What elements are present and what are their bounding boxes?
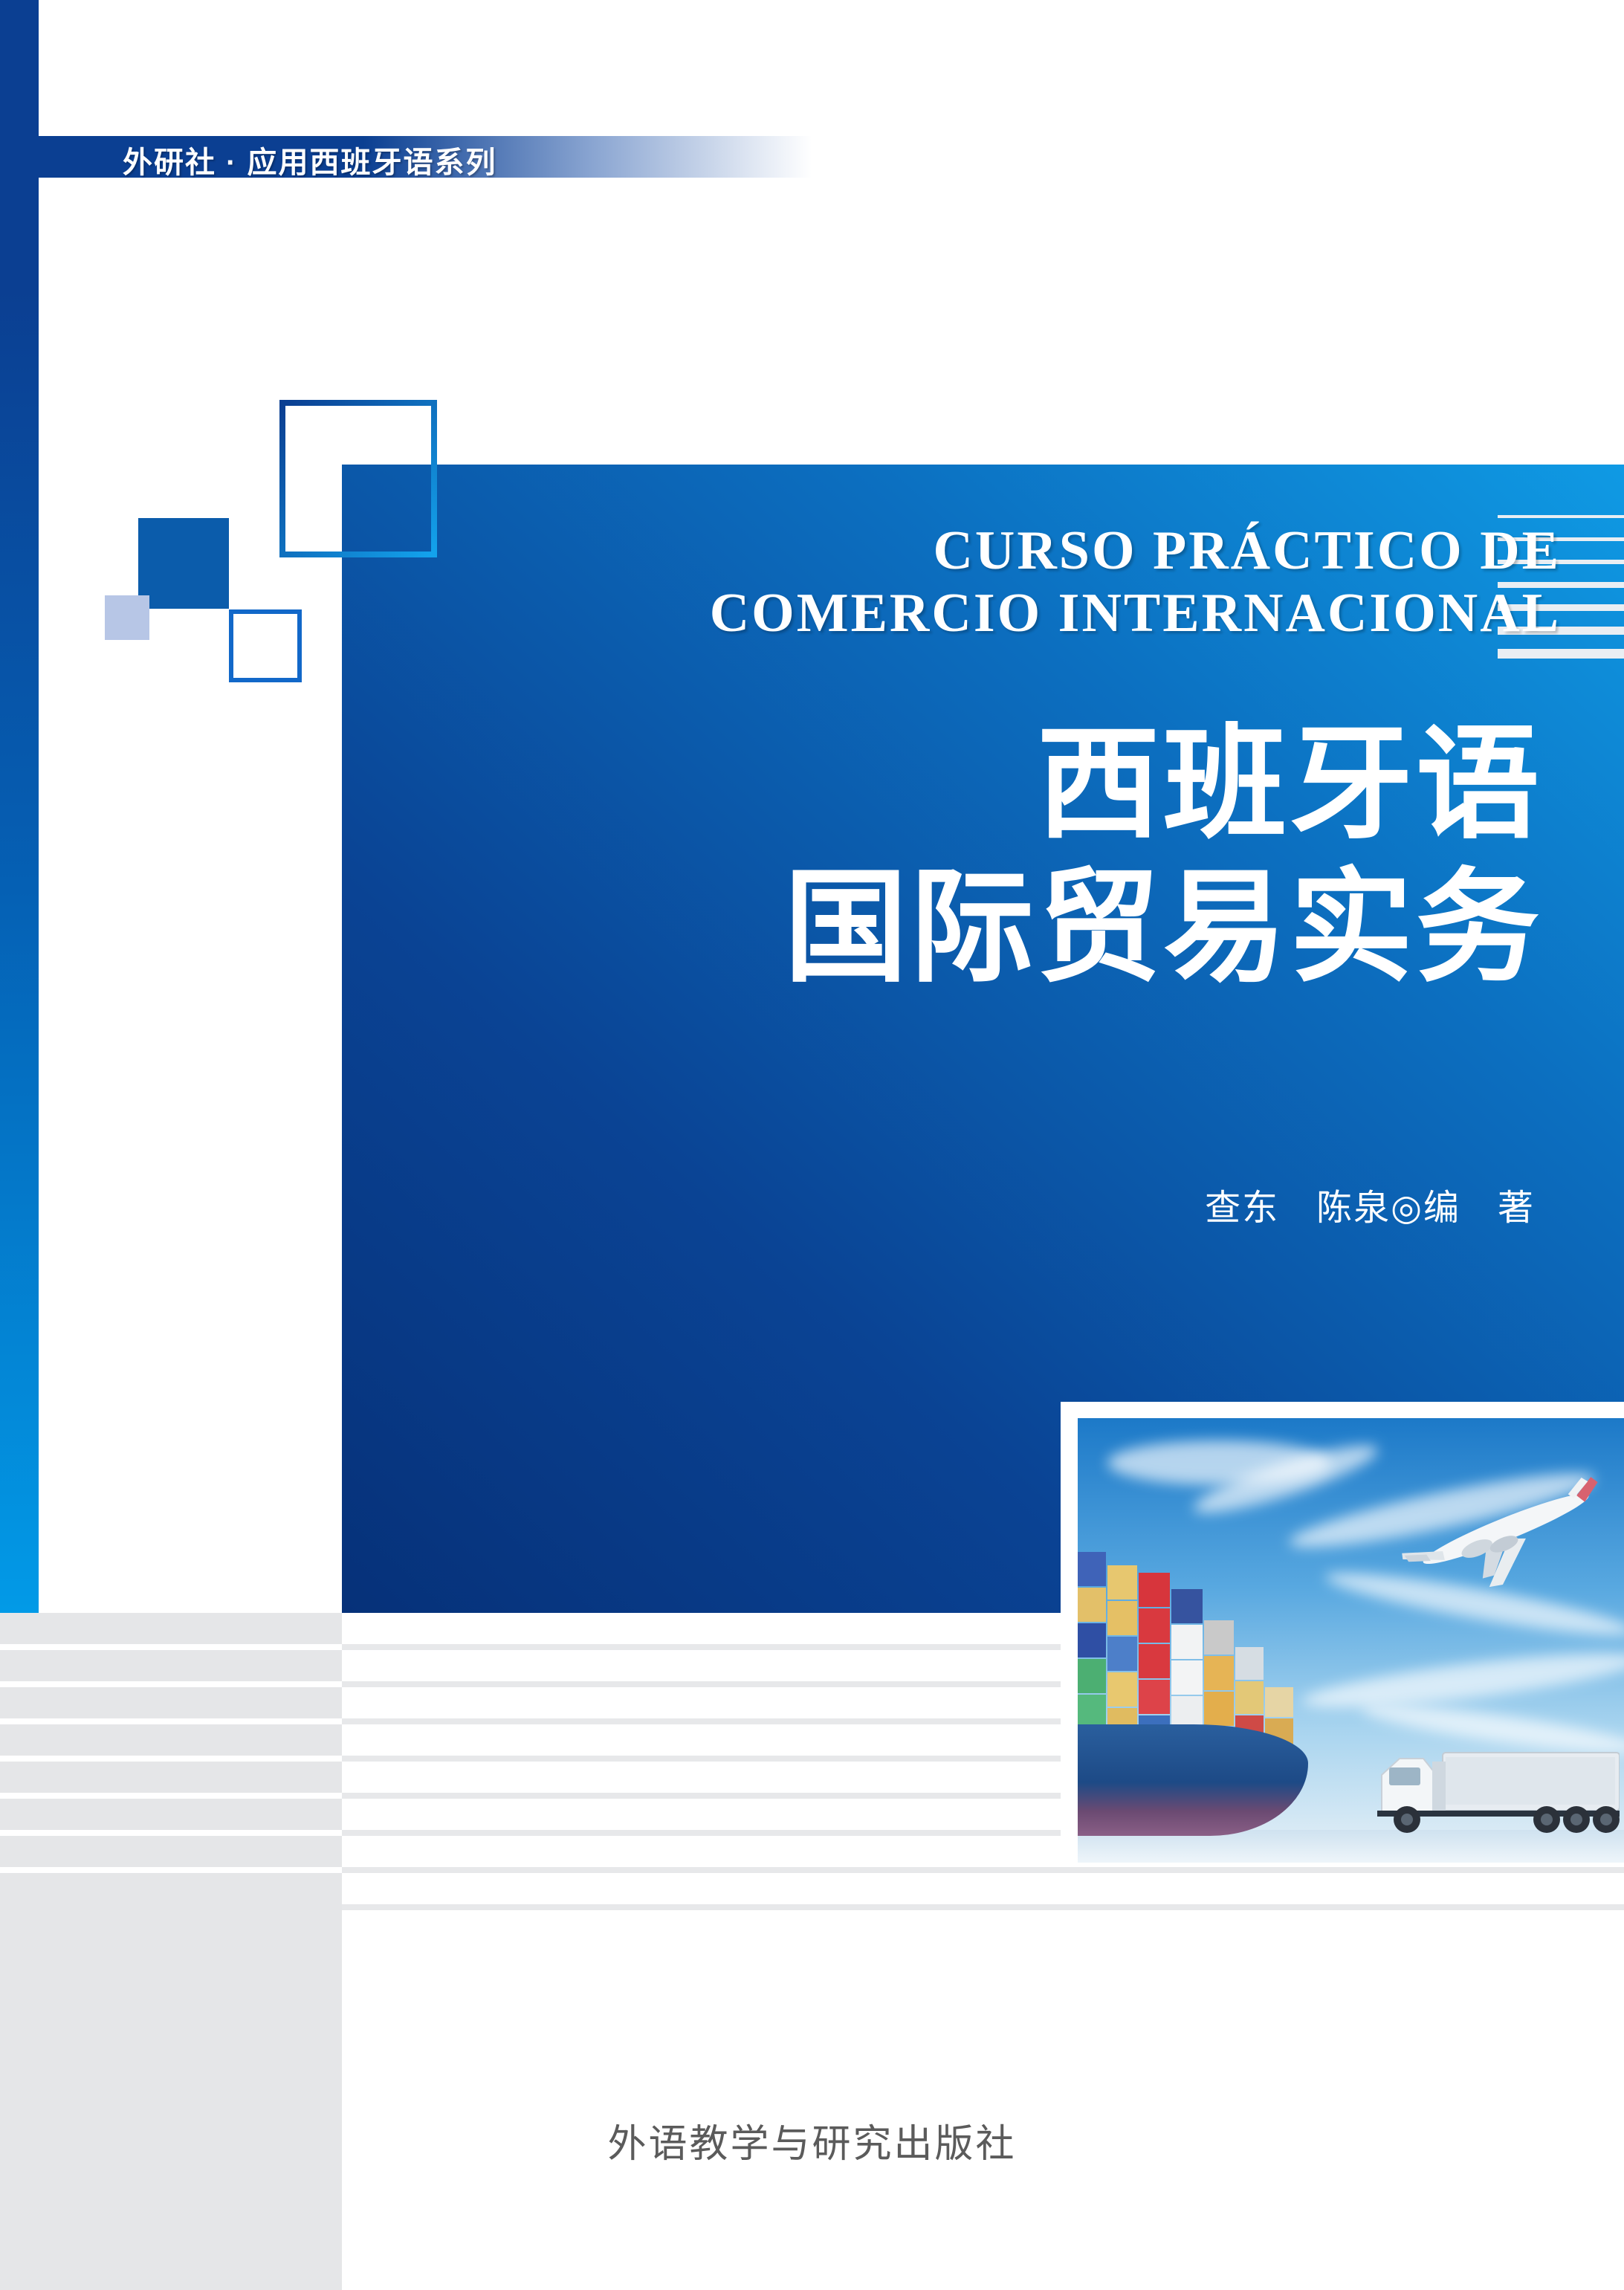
small-outlined-square-decor: [229, 609, 302, 682]
cover-photo: [1078, 1418, 1624, 1863]
container-block: [1235, 1681, 1264, 1714]
container-block: [1204, 1692, 1234, 1726]
container-block: [1204, 1656, 1234, 1690]
container-block: [1171, 1625, 1203, 1659]
container-block: [1171, 1660, 1203, 1695]
airplane-icon: [1398, 1472, 1614, 1605]
light-periwinkle-square-decor: [105, 595, 149, 640]
chinese-title-line-1: 西班牙语: [342, 714, 1542, 857]
author-line: 查东 陈泉◎编 著: [342, 1178, 1535, 1230]
airplane: [1398, 1472, 1614, 1605]
container-block: [1107, 1565, 1137, 1600]
container-ship: [1078, 1509, 1316, 1836]
container-block: [1139, 1608, 1170, 1643]
container-block: [1204, 1620, 1234, 1655]
container-block: [1107, 1672, 1137, 1707]
container-block: [1078, 1588, 1106, 1622]
cloud-shape: [1300, 1643, 1624, 1718]
spanish-title: CURSO PRÁCTICO DE COMERCIO INTERNACIONAL: [342, 520, 1561, 644]
ship-hull: [1078, 1724, 1308, 1836]
container-block: [1139, 1644, 1170, 1678]
series-banner-label: 外研社 · 应用西班牙语系列: [123, 138, 497, 181]
left-column-stripes: [0, 1613, 342, 1895]
container-block: [1078, 1552, 1106, 1586]
filled-blue-square-decor: [138, 518, 229, 609]
spanish-title-line-2: COMERCIO INTERNACIONAL: [342, 583, 1561, 645]
container-block: [1171, 1589, 1203, 1623]
container-block: [1139, 1680, 1170, 1714]
chinese-title: 西班牙语 国际贸易实务: [342, 714, 1542, 1000]
container-block: [1078, 1623, 1106, 1657]
left-vertical-gradient-bar: [0, 0, 39, 1613]
container-block: [1078, 1659, 1106, 1693]
spanish-title-line-1: CURSO PRÁCTICO DE: [342, 520, 1561, 583]
container-block: [1235, 1647, 1264, 1680]
publisher-name: 外语教学与研究出版社: [0, 2112, 1624, 2168]
container-block: [1107, 1601, 1137, 1635]
left-gray-column: [0, 1613, 342, 2290]
chinese-title-line-2: 国际贸易实务: [342, 857, 1542, 1000]
book-cover: 外研社 · 应用西班牙语系列 CURSO PRÁCTICO DE COMERCI…: [0, 0, 1624, 2290]
cargo-truck: [1374, 1748, 1620, 1842]
container-block: [1107, 1637, 1137, 1671]
container-block: [1265, 1687, 1293, 1717]
container-block: [1139, 1573, 1170, 1607]
truck-icon: [1374, 1748, 1620, 1842]
